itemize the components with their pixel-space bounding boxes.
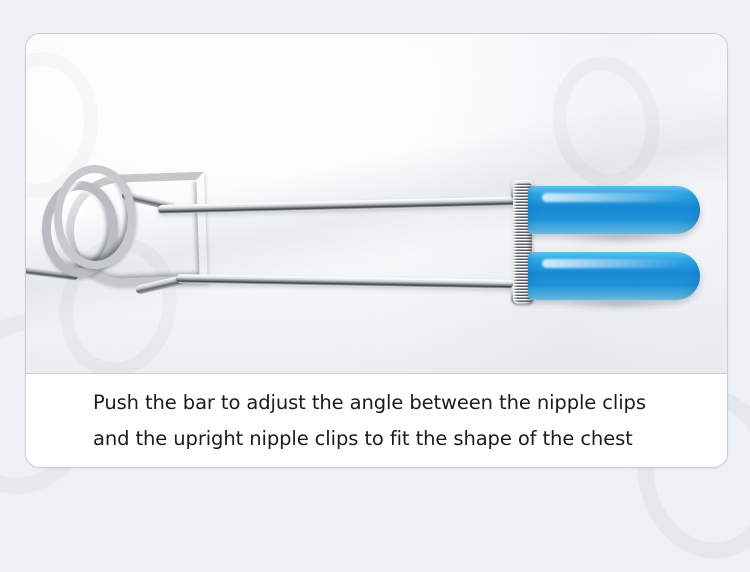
caption-line-1: Push the bar to adjust the angle between… xyxy=(93,385,728,421)
lower-blue-tip xyxy=(528,252,700,300)
upper-arm xyxy=(158,196,522,214)
product-assembly xyxy=(26,34,728,373)
product-info-card: Push the bar to adjust the angle between… xyxy=(25,33,728,468)
caption-line-2: and the upright nipple clips to fit the … xyxy=(93,421,728,457)
upper-blue-tip xyxy=(528,186,700,234)
product-photo xyxy=(26,34,728,373)
caption-block: Push the bar to adjust the angle between… xyxy=(26,374,728,468)
lower-arm xyxy=(176,274,522,289)
split-ring-inner xyxy=(54,165,136,269)
